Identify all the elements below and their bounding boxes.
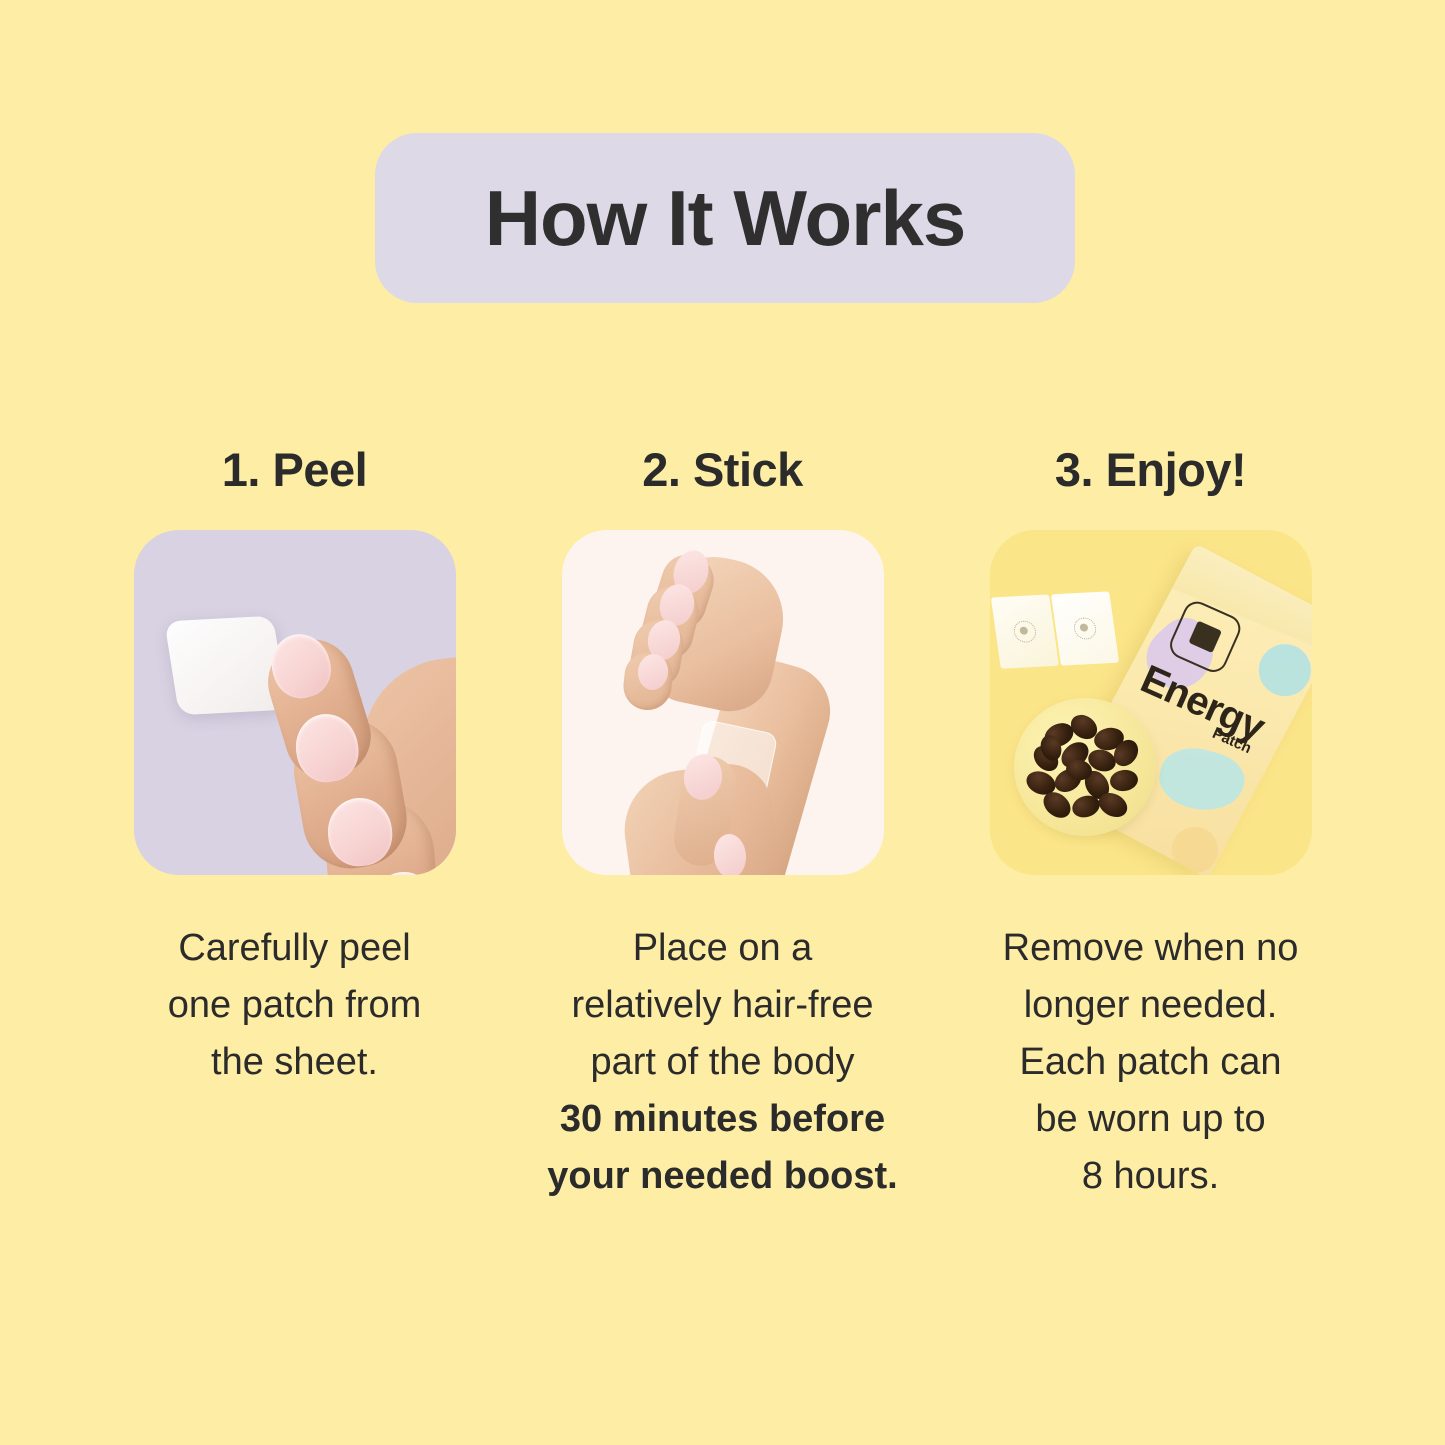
caption-line: Carefully peel — [125, 920, 465, 977]
caption-line: the sheet. — [125, 1034, 465, 1091]
step-1-caption: Carefully peel one patch from the sheet. — [125, 920, 465, 1091]
page-title: How It Works — [485, 179, 966, 257]
step-stick: 2. Stick Place on a relatively hair-free… — [562, 408, 884, 1205]
step-enjoy: 3. Enjoy! Energy Patch — [990, 408, 1312, 1205]
caption-line: be worn up to — [981, 1091, 1321, 1148]
step-peel: 1. Peel Carefully peel one patch from th… — [134, 408, 456, 1205]
caption-line: Each patch can — [981, 1034, 1321, 1091]
coffee-bean-icon — [1108, 768, 1139, 793]
caption-line: Remove when no — [981, 920, 1321, 977]
steps-row: 1. Peel Carefully peel one patch from th… — [0, 408, 1445, 1205]
caption-line-bold: 30 minutes before — [523, 1091, 923, 1148]
decor-circle-icon — [1249, 635, 1311, 705]
sun-icon — [1072, 617, 1097, 640]
patch-sheet-strip — [990, 591, 1120, 669]
step-3-image-panel: Energy Patch — [990, 530, 1312, 875]
sun-icon — [1012, 620, 1037, 643]
step-1-title: 1. Peel — [222, 408, 367, 530]
decor-sun-icon — [1163, 819, 1225, 875]
caption-line: relatively hair-free — [523, 977, 923, 1034]
caption-line: 8 hours. — [981, 1148, 1321, 1205]
coffee-bean-dish — [1014, 698, 1156, 836]
caption-line: part of the body — [523, 1034, 923, 1091]
patch-square-icon — [1050, 591, 1118, 665]
step-3-caption: Remove when no longer needed. Each patch… — [981, 920, 1321, 1205]
caption-line: Place on a — [523, 920, 923, 977]
patch-square-icon — [990, 594, 1058, 668]
step-1-image-panel — [134, 530, 456, 875]
step-2-title: 2. Stick — [642, 408, 803, 530]
step-3-title: 3. Enjoy! — [1055, 408, 1246, 530]
caption-line: one patch from — [125, 977, 465, 1034]
brand-logo-icon — [1188, 621, 1222, 654]
caption-line-bold: your needed boost. — [523, 1148, 923, 1205]
hand-illustration — [252, 622, 456, 875]
step-2-caption: Place on a relatively hair-free part of … — [523, 920, 923, 1205]
how-it-works-banner: How It Works — [375, 133, 1075, 303]
caption-line: longer needed. — [981, 977, 1321, 1034]
step-2-image-panel — [562, 530, 884, 875]
